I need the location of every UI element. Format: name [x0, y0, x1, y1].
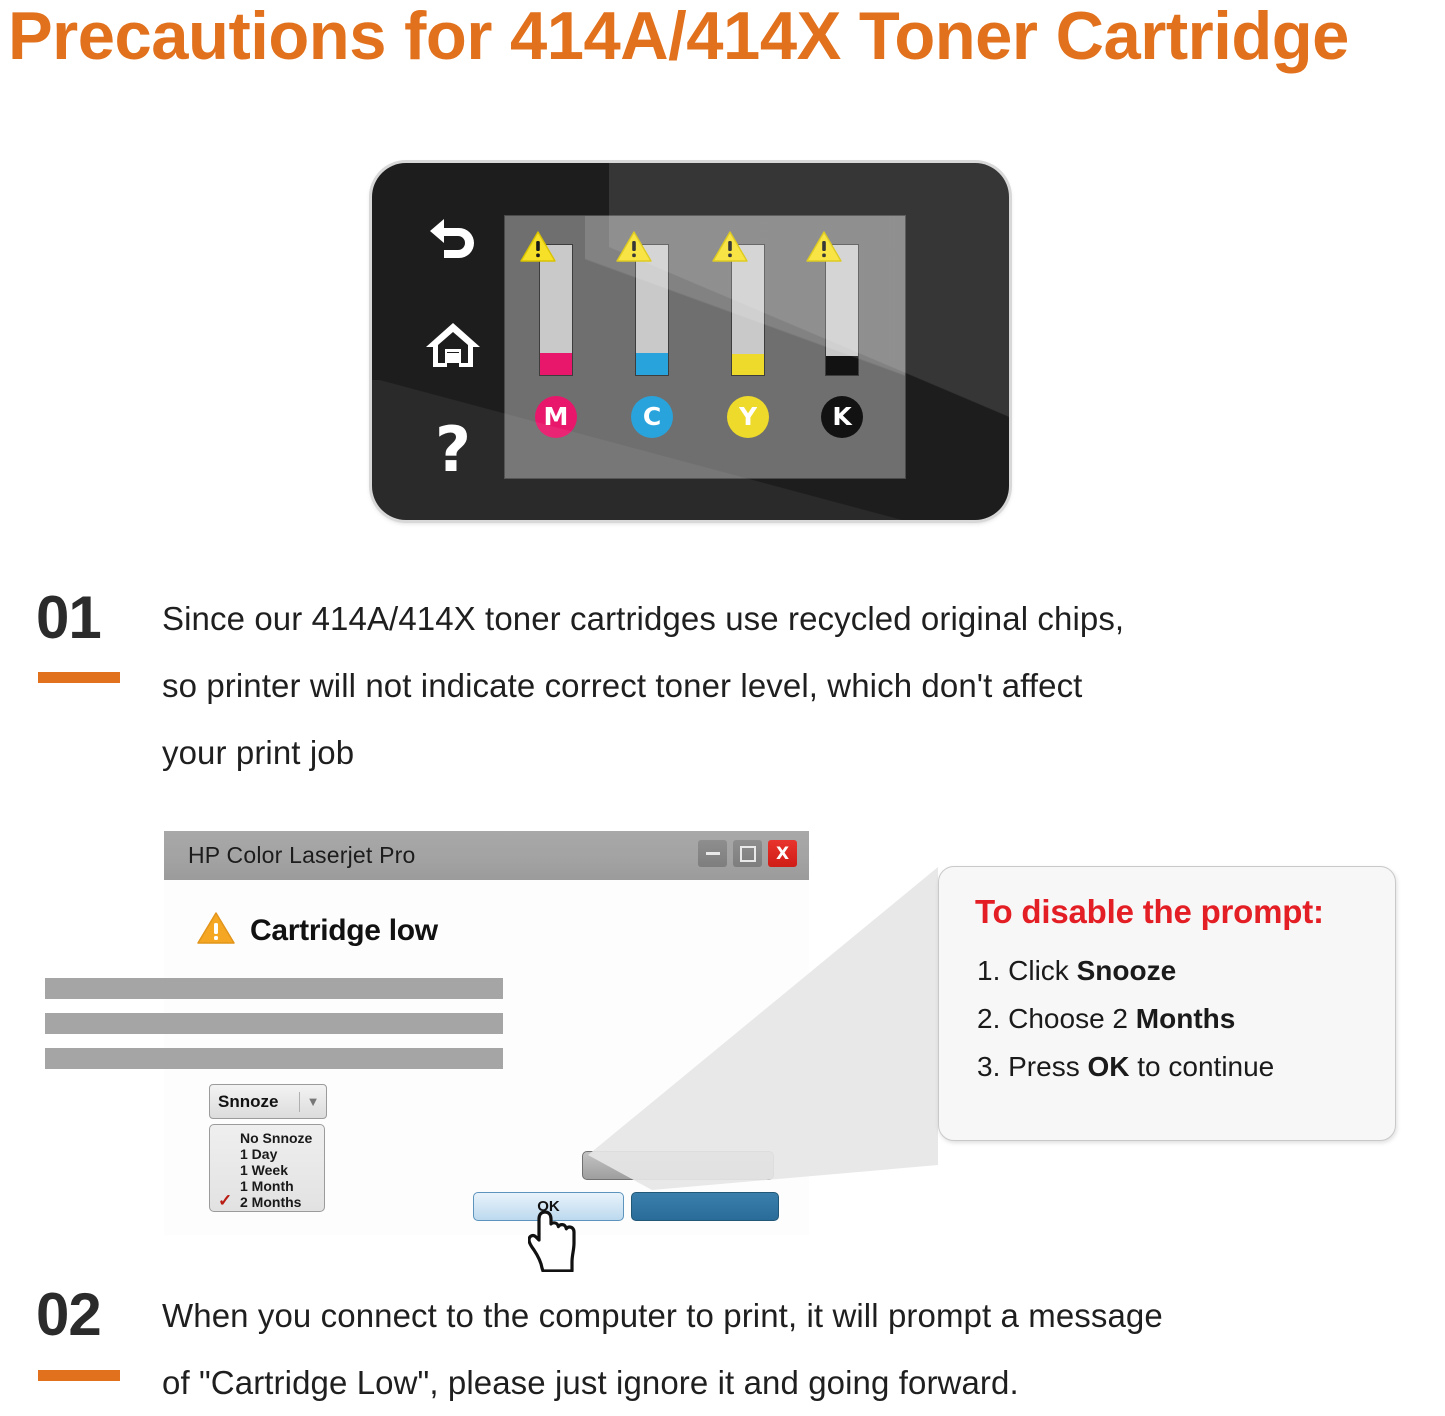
- callout-keyword: Months: [1136, 1003, 1236, 1034]
- toner-level-fill: [540, 353, 572, 375]
- placeholder-text-bar: [45, 1013, 503, 1034]
- step-line: your print job: [162, 719, 1412, 786]
- snooze-option[interactable]: No Snnoze: [210, 1130, 324, 1146]
- toner-label-cyan: C: [631, 396, 673, 438]
- snooze-option-label: 1 Week: [240, 1162, 288, 1178]
- callout-step: 3. Press OK to continue: [977, 1051, 1274, 1083]
- toner-gauge-cyan: C: [615, 216, 701, 478]
- callout-step: 1. Click Snooze: [977, 955, 1176, 987]
- panel-bezel: ? MCYK: [372, 163, 1009, 520]
- toner-gauge-black: K: [805, 216, 891, 478]
- minimize-icon[interactable]: [698, 840, 727, 867]
- callout-keyword: OK: [1087, 1051, 1129, 1082]
- warning-triangle-icon: [196, 911, 236, 951]
- snooze-option-label: 2 Months: [240, 1194, 301, 1210]
- back-arrow-icon[interactable]: [412, 213, 494, 263]
- help-glyph: ?: [435, 413, 471, 486]
- maximize-icon[interactable]: [733, 840, 762, 867]
- warning-triangle-icon: [519, 230, 557, 264]
- dialog-blue-button[interactable]: [631, 1192, 779, 1221]
- callout-heading: To disable the prompt:: [975, 893, 1324, 931]
- toner-gauge-yellow: Y: [711, 216, 797, 478]
- step-number-01: 01: [36, 588, 156, 648]
- snooze-option[interactable]: ✓2 Months: [210, 1194, 324, 1210]
- snooze-selected-value: Snnoze: [210, 1092, 299, 1112]
- placeholder-text-bar: [45, 978, 503, 999]
- page-title: Precautions for 414A/414X Toner Cartridg…: [8, 0, 1417, 76]
- toner-label-magenta: M: [535, 396, 577, 438]
- help-icon[interactable]: ?: [412, 419, 494, 481]
- callout-box: To disable the prompt: 1. Click Snooze 2…: [938, 866, 1396, 1141]
- warning-triangle-icon: [805, 230, 843, 264]
- warning-triangle-icon: [615, 230, 653, 264]
- toner-gauge-magenta: M: [519, 216, 605, 478]
- step-line: Since our 414A/414X toner cartridges use…: [162, 585, 1412, 652]
- check-icon: ✓: [218, 1193, 232, 1209]
- close-icon[interactable]: X: [768, 840, 797, 867]
- step-line: When you connect to the computer to prin…: [162, 1282, 1422, 1349]
- printer-control-panel: ? MCYK: [372, 163, 1009, 520]
- snooze-option[interactable]: 1 Week: [210, 1162, 324, 1178]
- step-line: of "Cartridge Low", please just ignore i…: [162, 1349, 1422, 1416]
- step-number-02: 02: [36, 1285, 156, 1345]
- lcd-screen: MCYK: [504, 215, 906, 479]
- dialog-title: HP Color Laserjet Pro: [188, 842, 415, 869]
- panel-key-group: ?: [412, 207, 494, 477]
- pointing-hand-cursor: [528, 1210, 584, 1272]
- toner-label-black: K: [821, 396, 863, 438]
- chevron-down-icon[interactable]: ▼: [300, 1094, 326, 1109]
- snooze-option-label: No Snnoze: [240, 1130, 312, 1146]
- callout-step: 2. Choose 2 Months: [977, 1003, 1235, 1035]
- home-icon[interactable]: [412, 319, 494, 371]
- dialog-titlebar: HP Color Laserjet Pro X: [164, 831, 809, 880]
- step-line: so printer will not indicate correct ton…: [162, 652, 1412, 719]
- warning-triangle-icon: [711, 230, 749, 264]
- snooze-option-label: 1 Month: [240, 1178, 294, 1194]
- callout-keyword: Snooze: [1077, 955, 1177, 986]
- toner-level-fill: [636, 353, 668, 375]
- toner-level-fill: [732, 354, 764, 375]
- dialog-gray-button[interactable]: [582, 1151, 774, 1180]
- toner-level-fill: [826, 356, 858, 376]
- alert-row: Cartridge low: [196, 911, 438, 951]
- toner-label-yellow: Y: [727, 396, 769, 438]
- window-controls: X: [698, 840, 797, 867]
- snooze-option-label: 1 Day: [240, 1146, 277, 1162]
- alert-heading: Cartridge low: [250, 914, 438, 948]
- placeholder-text-bar: [45, 1048, 503, 1069]
- snooze-dropdown-list[interactable]: No Snnoze1 Day1 Week1 Month✓2 Months: [209, 1124, 325, 1212]
- step-rule-01: [38, 672, 120, 683]
- step-text-01: Since our 414A/414X toner cartridges use…: [162, 585, 1412, 786]
- snooze-option[interactable]: 1 Day: [210, 1146, 324, 1162]
- snooze-dropdown[interactable]: Snnoze ▼: [209, 1084, 327, 1119]
- step-text-02: When you connect to the computer to prin…: [162, 1282, 1422, 1416]
- step-rule-02: [38, 1370, 120, 1381]
